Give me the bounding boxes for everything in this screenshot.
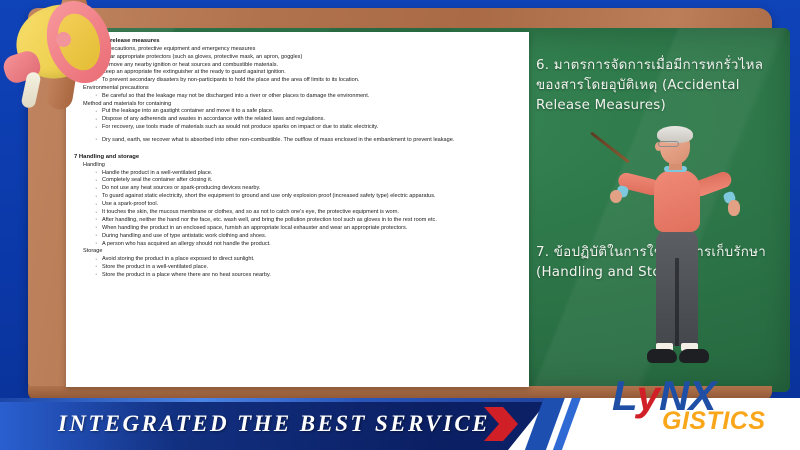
megaphone-button <box>56 32 71 47</box>
bullet-list: Put the leakage into an gastight contain… <box>96 108 522 131</box>
bullet-item: Dispose of any adherends and wastes in a… <box>96 116 522 124</box>
bullet-item: Handle the product in a well-ventilated … <box>96 170 522 178</box>
bullet-list: Wear appropriate protectors (such as glo… <box>96 54 522 85</box>
slide-canvas: 6 Accidental release measuresPersonal pr… <box>0 0 800 450</box>
bullet-item: Be careful so that the leakage may not b… <box>96 93 522 101</box>
teacher-right-hand <box>728 200 740 216</box>
board-heading-section-6: 6. มาตรการจัดการเมื่อมีการหกรั่วไหลของสา… <box>536 56 782 115</box>
teacher-right-shoe <box>679 349 709 363</box>
bullet-list: Handle the product in a well-ventilated … <box>96 170 522 249</box>
teacher-leg-split <box>675 258 679 346</box>
sds-document-page: 6 Accidental release measuresPersonal pr… <box>66 32 529 387</box>
sub-heading: Environmental precautions <box>83 85 522 93</box>
bullet-item: Keep an appropriate fire extinguisher at… <box>96 69 522 77</box>
bullet-item: A person who has acquired an allergy sho… <box>96 241 522 249</box>
bullet-item: Remove any nearby ignition or heat sourc… <box>96 62 522 70</box>
bullet-item: After handling, neither the hand nor the… <box>96 217 522 225</box>
bullet-list: Be careful so that the leakage may not b… <box>96 93 522 101</box>
bullet-item: Wear appropriate protectors (such as glo… <box>96 54 522 62</box>
teacher-left-hand <box>610 190 622 203</box>
section-heading: 6 Accidental release measures <box>74 37 522 45</box>
bullet-item: To prevent secondary disasters by non-pa… <box>96 77 522 85</box>
bullet-item: For recovery, use tools made of material… <box>96 124 522 132</box>
bullet-item: Avoid storing the product in a place exp… <box>96 256 522 264</box>
banner-tagline: INTEGRATED THE BEST SERVICE <box>58 411 490 437</box>
bullet-item: Use a spark-proof tool. <box>96 201 522 209</box>
company-logo: LyNX GISTICS <box>600 375 790 443</box>
teacher-left-shoe <box>647 349 677 363</box>
bullet-list: Dry sand, earth, we recover what is abso… <box>96 137 522 145</box>
bullet-item: Do not use any heat sources or spark-pro… <box>96 185 522 193</box>
bullet-item: Dry sand, earth, we recover what is abso… <box>96 137 522 145</box>
bullet-list: Avoid storing the product in a place exp… <box>96 256 522 279</box>
glasses-icon <box>658 141 679 147</box>
logo-gistics-wordmark: GISTICS <box>662 409 766 434</box>
bullet-item: It touches the skin, the mucous membrane… <box>96 209 522 217</box>
sub-heading: Storage <box>83 248 522 256</box>
bullet-item: Store the product in a place where there… <box>96 272 522 280</box>
section-spacer <box>74 145 522 153</box>
sub-heading: Personal precautions, protective equipme… <box>83 46 522 54</box>
bullet-item: During handling and use of type antistat… <box>96 233 522 241</box>
logo-letter-l: L <box>612 372 637 419</box>
sub-heading: Handling <box>83 162 522 170</box>
bullet-item: When handling the product in an enclosed… <box>96 225 522 233</box>
teacher-sweater <box>654 170 700 232</box>
bullet-item: Store the product in a well-ventilated p… <box>96 264 522 272</box>
bullet-item: Completely seal the container after clos… <box>96 177 522 185</box>
section-heading: 7 Handling and storage <box>74 153 522 161</box>
bullet-item: Put the leakage into an gastight contain… <box>96 108 522 116</box>
bullet-item: To guard against static electricity, sho… <box>96 193 522 201</box>
sub-heading: Method and materials for containing <box>83 101 522 109</box>
sds-document-content: 6 Accidental release measuresPersonal pr… <box>74 37 522 279</box>
megaphone-icon <box>0 0 114 108</box>
logo-letter-y: y <box>637 372 659 419</box>
teacher-character <box>600 128 740 396</box>
